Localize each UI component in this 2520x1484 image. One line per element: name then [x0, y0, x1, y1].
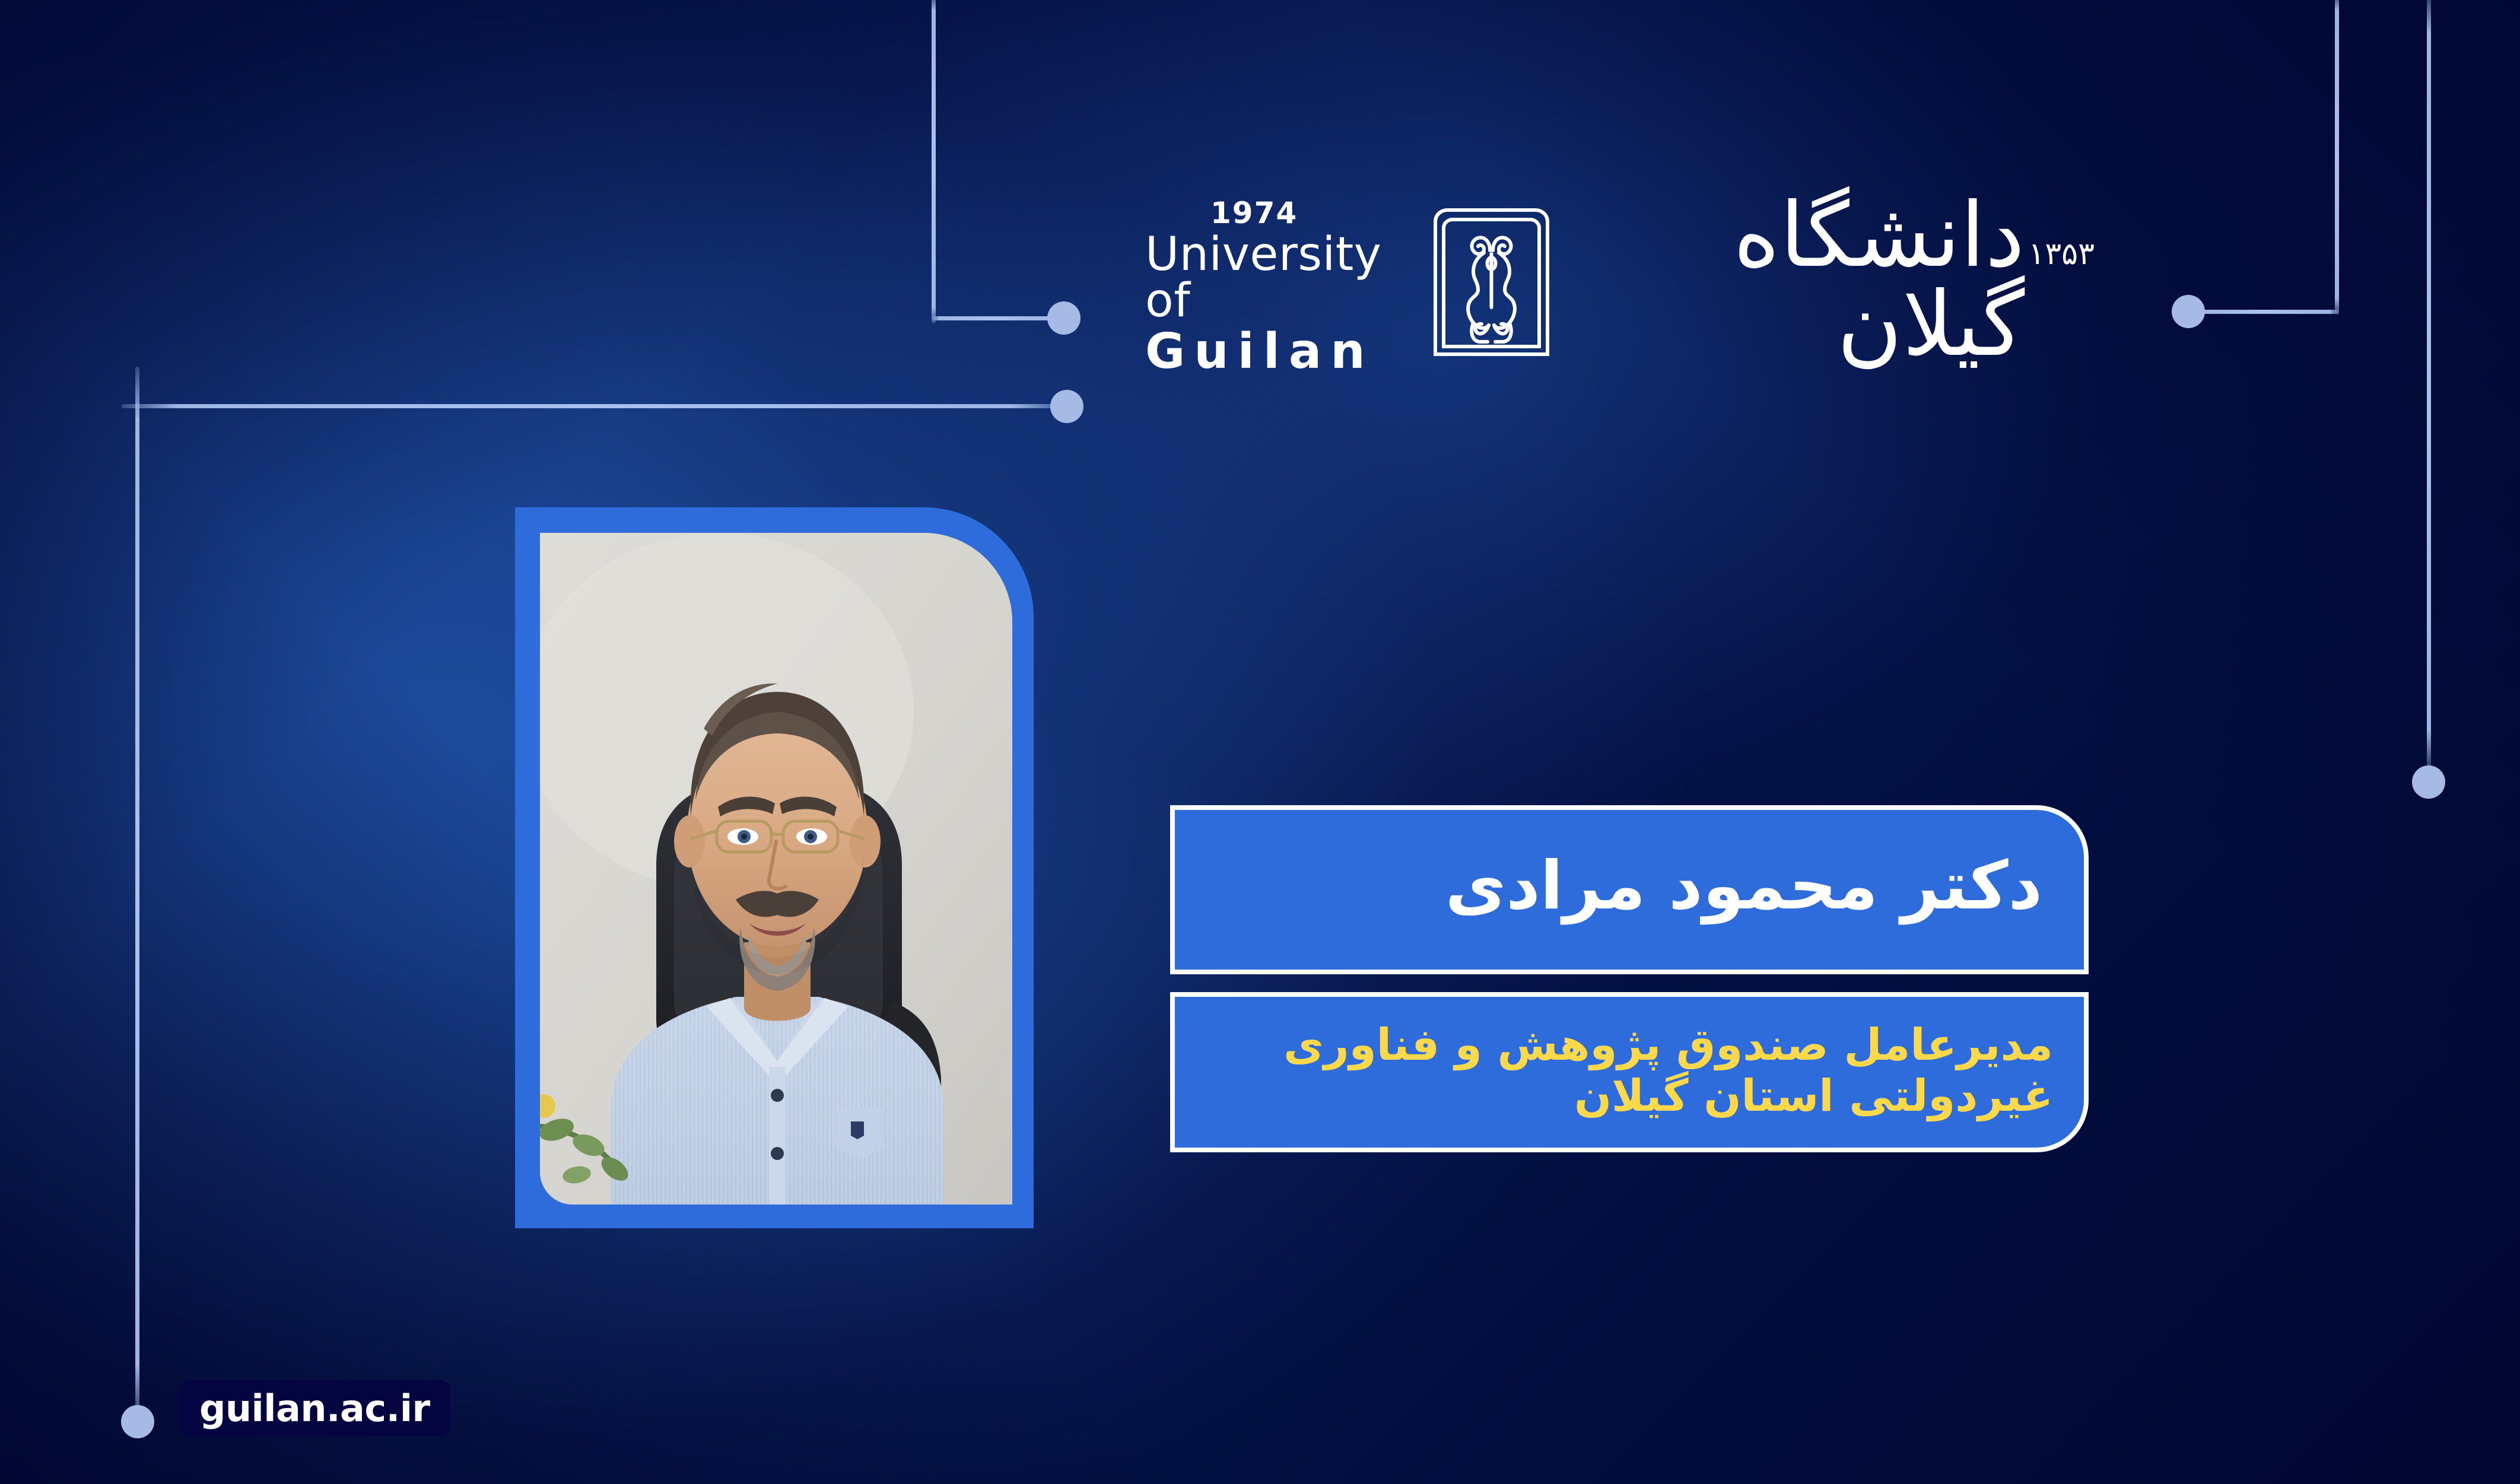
portrait-frame	[515, 507, 1034, 1228]
far-right-vertical-line	[2427, 0, 2431, 768]
logo-year-persian: ۱۳۵۳	[2028, 236, 2095, 272]
guilan-pillar-emblem-icon	[1431, 206, 1552, 358]
upper-elbow-dot	[1047, 301, 1081, 335]
logo-english-line-2: Guilan	[1145, 328, 1374, 376]
speaker-title-banner: مدیرعامل صندوق پژوهش و فناوری غیردولتی ا…	[1170, 992, 2089, 1152]
top-left-cross-dot	[121, 1405, 154, 1438]
right-elbow-dot	[2172, 295, 2205, 328]
portrait-image	[540, 533, 1012, 1205]
top-left-cross-vertical-line	[135, 367, 139, 1417]
website-badge-text: guilan.ac.ir	[199, 1387, 430, 1430]
logo-english-block: 1974 University of Guilan	[1145, 188, 1418, 376]
poster-canvas: 1974 University of Guilan	[0, 0, 2520, 1484]
top-left-cross-horizontal-line	[122, 404, 1068, 408]
logo-persian-block: ۱۳۵۳ دانشگاه گیلان	[1565, 195, 2095, 369]
right-elbow-vertical-segment	[2335, 0, 2339, 314]
upper-elbow-vertical-segment	[932, 0, 936, 323]
speaker-name-text: دکتر محمود مرادی	[1445, 847, 2042, 924]
right-elbow-horizontal-segment	[2189, 310, 2339, 314]
mid-horizontal-dot	[1050, 390, 1083, 423]
university-logo: 1974 University of Guilan	[1145, 196, 2095, 368]
logo-english-line-1: University of	[1145, 231, 1418, 324]
speaker-name-banner: دکتر محمود مرادی	[1170, 805, 2089, 974]
upper-elbow-horizontal-segment	[932, 316, 1059, 320]
logo-persian-name: دانشگاه گیلان	[1565, 191, 2025, 369]
logo-year-gregorian: 1974	[1210, 198, 1298, 228]
far-right-vertical-dot	[2412, 765, 2445, 799]
speaker-title-line-1: مدیرعامل صندوق پژوهش و فناوری	[1283, 1020, 2053, 1071]
website-badge[interactable]: guilan.ac.ir	[179, 1380, 450, 1436]
speaker-title-line-2: غیردولتی استان گیلان	[1574, 1071, 2053, 1122]
